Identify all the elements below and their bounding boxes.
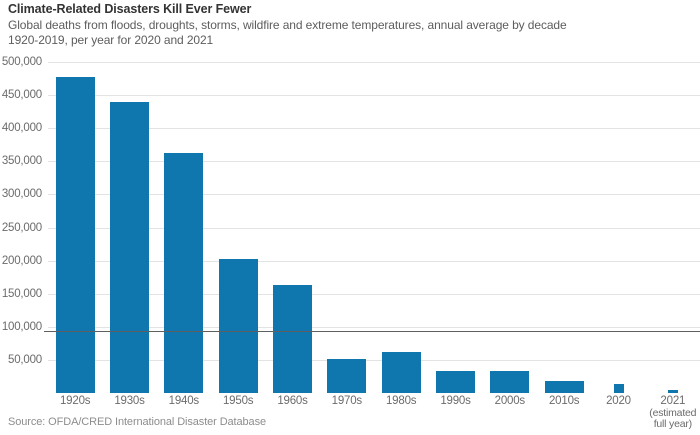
bar <box>436 371 475 393</box>
x-axis-tick-label: 2010s <box>537 395 591 408</box>
x-axis-tick-label-text: 2010s <box>549 395 579 407</box>
bar <box>327 359 366 393</box>
x-axis-tick-label: 1920s <box>48 395 102 408</box>
x-axis-tick-sublabel: (estimatedfull year) <box>646 408 700 431</box>
bar <box>56 77 95 393</box>
x-axis-tick-label: 1940s <box>157 395 211 408</box>
x-axis-tick-label-text: 1950s <box>223 395 253 407</box>
x-axis-tick-label-text: 1960s <box>277 395 307 407</box>
x-axis-tick-label-text: 1940s <box>169 395 199 407</box>
y-axis-tick-label: 500,000 <box>2 56 42 68</box>
x-axis-tick-label: 2021(estimatedfull year) <box>646 395 700 431</box>
chart-subtitle-line-2: 1920-2019, per year for 2020 and 2021 <box>8 33 692 48</box>
bar <box>110 102 149 393</box>
bar <box>219 259 258 393</box>
y-axis-tick-label: 150,000 <box>2 288 42 300</box>
x-axis-tick-label-text: 1980s <box>386 395 416 407</box>
bar <box>545 381 584 393</box>
x-axis-tick-label-text: 2021 <box>660 395 685 407</box>
x-axis: 1920s1930s1940s1950s1960s1970s1980s1990s… <box>48 395 700 435</box>
chart-header: Climate-Related Disasters Kill Ever Fewe… <box>8 2 692 47</box>
y-axis-tick-label: 400,000 <box>2 122 42 134</box>
y-axis-tick-label: 350,000 <box>2 155 42 167</box>
bar <box>382 352 421 393</box>
y-axis: 500,000450,000400,000350,000300,000250,0… <box>0 62 48 394</box>
chart-figure: Climate-Related Disasters Kill Ever Fewe… <box>0 0 700 434</box>
bar <box>614 384 624 393</box>
bar <box>490 371 529 393</box>
x-axis-tick-label-text: 1990s <box>440 395 470 407</box>
x-axis-tick-label-text: 2000s <box>495 395 525 407</box>
x-axis-tick-label: 1970s <box>320 395 374 408</box>
x-axis-tick-label-text: 1930s <box>114 395 144 407</box>
y-axis-tick-label: 250,000 <box>2 222 42 234</box>
x-axis-tick-label: 1930s <box>102 395 156 408</box>
source-note: Source: OFDA/CRED International Disaster… <box>8 416 266 428</box>
x-axis-tick-label-text: 1920s <box>60 395 90 407</box>
x-axis-tick-label-text: 2020 <box>606 395 631 407</box>
x-axis-tick-label: 1990s <box>428 395 482 408</box>
x-axis-tick-label-text: 1970s <box>332 395 362 407</box>
plot-area: 500,000450,000400,000350,000300,000250,0… <box>0 62 700 394</box>
bar-series <box>48 62 700 393</box>
x-axis-tick-label: 1980s <box>374 395 428 408</box>
y-axis-tick-label: 200,000 <box>2 255 42 267</box>
page-title: Climate-Related Disasters Kill Ever Fewe… <box>8 2 692 17</box>
y-axis-tick-label: 450,000 <box>2 89 42 101</box>
x-axis-tick-label: 2000s <box>483 395 537 408</box>
y-axis-tick-label: 50,000 <box>8 354 42 366</box>
axis-baseline <box>44 331 700 333</box>
y-axis-tick-label: 300,000 <box>2 188 42 200</box>
bar <box>164 153 203 393</box>
x-axis-tick-label: 2020 <box>591 395 645 408</box>
x-axis-tick-label: 1960s <box>265 395 319 408</box>
bar <box>273 285 312 393</box>
chart-subtitle-line-1: Global deaths from floods, droughts, sto… <box>8 18 692 33</box>
bar <box>668 390 678 393</box>
y-axis-tick-label: 100,000 <box>2 321 42 333</box>
x-axis-tick-label: 1950s <box>211 395 265 408</box>
